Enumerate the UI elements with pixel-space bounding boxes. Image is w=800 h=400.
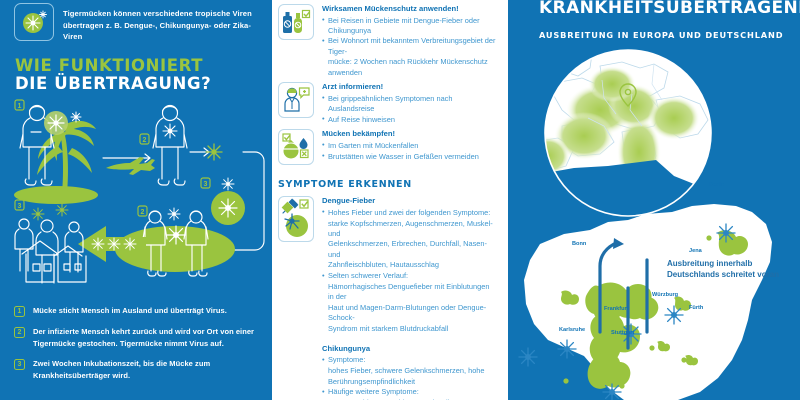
left-heading-line1: WIE FUNKTIONIERT	[15, 56, 203, 75]
block-item: starke Kopfschmerzen, Augenschmerzen, Mu…	[322, 219, 496, 239]
block-item: Im Garten mit Mückenfallen	[322, 141, 496, 151]
section-heading-symptoms: SYMPTOME ERKENNEN	[278, 179, 504, 190]
list-item: 2 Der infizierte Mensch kehrt zurück und…	[14, 326, 264, 349]
panel-divider-right	[504, 0, 508, 400]
block-item: Gelenkschmerzen, Erbrechen, Durchfall, N…	[322, 239, 496, 259]
step-number: 3	[14, 359, 25, 370]
intro-badge-text: Tigermücken können verschiedene tropisch…	[63, 3, 264, 43]
page-subtitle: AUSBREITUNG IN EUROPA UND DEUTSCHLAND	[539, 30, 783, 40]
prevention-block-repellent: Wirksamen Mückenschutz anwenden! Bei Rei…	[272, 4, 504, 78]
block-item: Bei Wohnort mit bekanntem Verbreitungsge…	[322, 36, 496, 56]
block-item: Bei Reisen in Gebiete mit Dengue-Fieber …	[322, 16, 496, 36]
prevention-block-fight: Mücken bekämpfen! Im Garten mit Mückenfa…	[272, 129, 504, 165]
syringe-mosquito-icon	[278, 196, 314, 242]
step-marker-3b: 3	[15, 200, 24, 210]
step-text: Der infizierte Mensch kehrt zurück und w…	[33, 326, 264, 349]
transmission-steps: 1 Mücke sticht Mensch im Ausland und übe…	[14, 305, 264, 390]
block-item: Selten schwerer Verlauf:	[322, 271, 496, 281]
mosquito-trap-icon	[278, 129, 314, 165]
city-label-bonn: Bonn	[572, 241, 586, 247]
repellent-bottles-icon	[278, 4, 314, 40]
intro-badge: Tigermücken können verschiedene tropisch…	[14, 3, 264, 43]
block-item: Symptome:	[322, 355, 496, 365]
city-label-berlin: Berlin	[709, 182, 725, 188]
step-marker-2: 2	[140, 134, 149, 144]
right-panel: KRANKHEITSÜBERTRAGEND AUSBREITUNG IN EUR…	[504, 0, 800, 400]
block-title: Arzt informieren!	[322, 82, 496, 92]
block-item: Bei grippeähnlichen Symptomen nach Ausla…	[322, 94, 496, 114]
returning-person-figure	[153, 106, 187, 186]
block-item: mücke: 2 Wochen nach Rückkehr Mückenschu…	[322, 57, 496, 77]
block-item: Hohes Fieber und zwei der folgenden Symp…	[322, 208, 496, 218]
block-item: Auf Reise hinweisen	[322, 115, 496, 125]
block-title: Mücken bekämpfen!	[322, 129, 496, 139]
step-marker-1: 1	[15, 100, 24, 110]
svg-text:1: 1	[18, 103, 22, 110]
village-figures	[15, 219, 86, 283]
maps-container	[504, 48, 800, 400]
left-heading-line2: DIE ÜBERTRAGUNG?	[15, 74, 211, 93]
europe-spread-circle-map	[504, 48, 754, 218]
block-title: Chikungunya	[322, 344, 496, 353]
block-item: Syndrom mit starkem Blutdruckabfall	[322, 324, 496, 334]
city-label-wuerzburg: Würzburg	[652, 292, 678, 298]
city-label-frankfurt: Frankfurt	[604, 306, 629, 312]
block-item: Hämorrhagisches Denguefieber mit Einblut…	[322, 282, 496, 302]
block-title: Wirksamen Mückenschutz anwenden!	[322, 4, 496, 14]
list-item: 1 Mücke sticht Mensch im Ausland und übe…	[14, 305, 264, 317]
block-item: Zahnfleischbluten, Hautausschlag	[322, 260, 496, 270]
palm-tree-icon	[37, 121, 96, 193]
step-marker-3: 3	[201, 178, 210, 188]
step-marker-2b: 2	[138, 206, 147, 216]
step-number: 2	[14, 327, 25, 338]
mosquito-icon	[14, 3, 54, 41]
block-item: Häufige weitere Symptome:	[322, 387, 496, 397]
block-item: Haut und Magen-Darm-Blutungen oder Dengu…	[322, 303, 496, 323]
block-item: Brutstätten wie Wasser in Gefäßen vermei…	[322, 152, 496, 162]
symptom-block-chikungunya: Chikungunya Symptome: hohes Fieber, schw…	[322, 344, 496, 400]
prevention-block-doctor: Arzt informieren! Bei grippeähnlichen Sy…	[272, 82, 504, 125]
city-label-stuttgart: Stuttgart	[611, 330, 634, 336]
transmission-cycle-illustration: 1	[0, 96, 272, 296]
svg-text:2: 2	[143, 137, 147, 144]
block-item: Berührungsempfindlichkeit	[322, 377, 496, 387]
panel-divider-left	[272, 0, 276, 400]
step-text: Zwei Wochen Inkubationszeit, bis die Müc…	[33, 358, 264, 381]
city-label-karlsruhe: Karlsruhe	[559, 327, 585, 333]
doctor-icon	[278, 82, 314, 118]
step-number: 1	[14, 306, 25, 317]
svg-text:2: 2	[141, 209, 145, 216]
symptom-block-dengue: Dengue-Fieber Hohes Fieber und zwei der …	[272, 196, 504, 334]
block-title: Dengue-Fieber	[322, 196, 496, 206]
left-panel: Tigermücken können verschiedene tropisch…	[0, 0, 272, 400]
spread-note: Ausbreitung innerhalb Deutschlands schre…	[667, 258, 792, 280]
middle-panel: Wirksamen Mückenschutz anwenden! Bei Rei…	[272, 0, 504, 400]
city-label-jena: Jena	[689, 248, 702, 254]
block-item: hohes Fieber, schwere Gelenkschmerzen, h…	[322, 366, 496, 376]
page-title: KRANKHEITSÜBERTRAGEND	[539, 0, 800, 18]
svg-text:3: 3	[18, 203, 22, 210]
svg-text:3: 3	[204, 181, 208, 188]
infographic-page: Tigermücken können verschiedene tropisch…	[0, 0, 800, 400]
city-label-fuerth: Fürth	[689, 305, 703, 311]
step-text: Mücke sticht Mensch im Ausland und übert…	[33, 305, 227, 317]
list-item: 3 Zwei Wochen Inkubationszeit, bis die M…	[14, 358, 264, 381]
airplane-icon	[103, 154, 155, 175]
mosquito-icon-right	[206, 144, 222, 160]
